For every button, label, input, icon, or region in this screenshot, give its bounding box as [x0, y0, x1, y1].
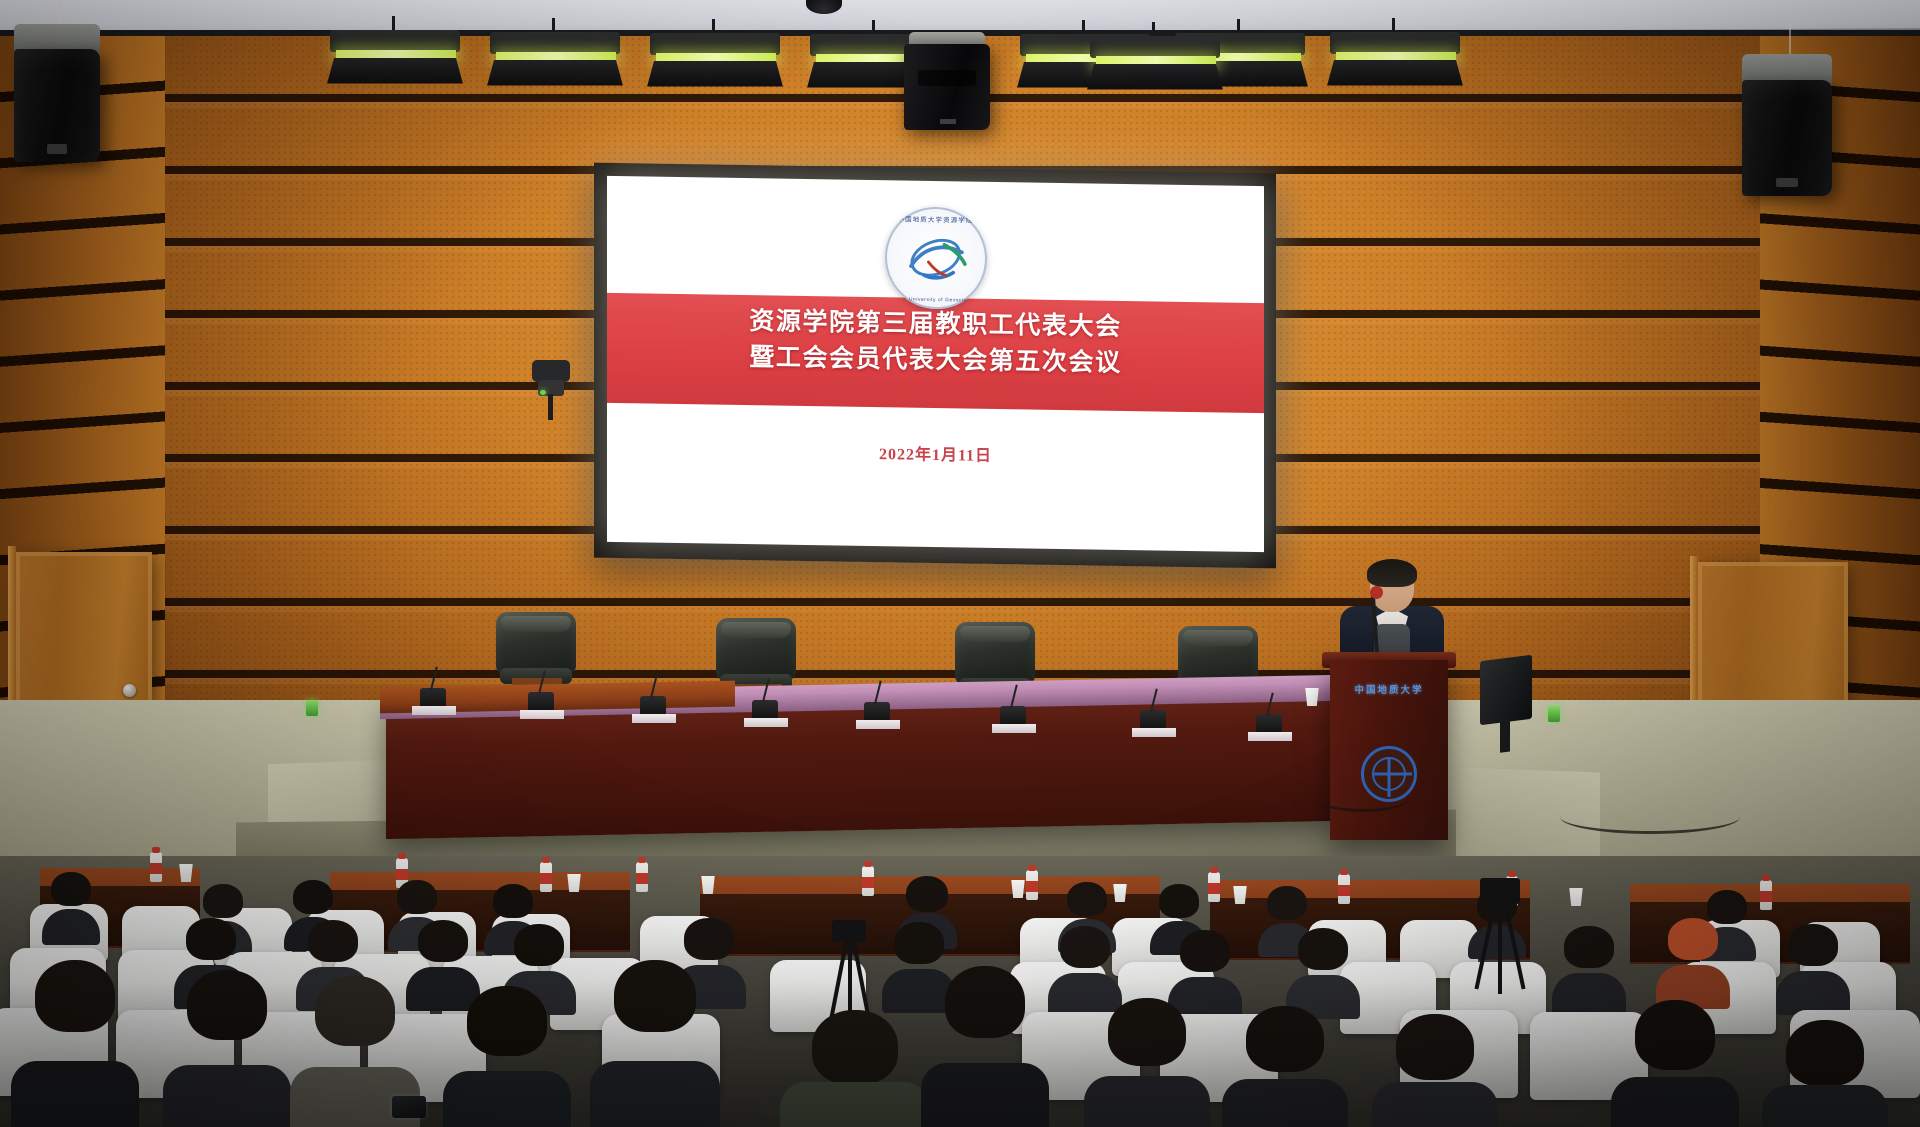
slide-date: 2022年1月11日: [607, 436, 1264, 470]
water-bottle-7: [1208, 872, 1220, 902]
table-microphone-6: [1000, 706, 1026, 726]
exit-indicator-left: [306, 700, 318, 716]
university-emblem-icon: 中国地质大学资源学院 China University of Geoscienc…: [885, 206, 987, 310]
conference-hall-photo: 中国地质大学资源学院 China University of Geoscienc…: [0, 0, 1920, 1127]
slide-title: 资源学院第三届教职工代表大会 暨工会会员代表大会第五次会议: [607, 302, 1264, 383]
emblem-ring-text-top: 中国地质大学资源学院: [885, 213, 987, 225]
podium: 中国地质大学: [1330, 660, 1448, 840]
smartphone-screen: [392, 1096, 426, 1118]
table-microphone-3: [640, 696, 666, 716]
stage-light-7: [1330, 32, 1460, 94]
attendee-foreground: [600, 960, 710, 1127]
attendee-foreground: [790, 1010, 920, 1127]
projection-screen-frame: 中国地质大学资源学院 China University of Geoscienc…: [594, 163, 1276, 569]
center-hanging-speaker: [904, 26, 990, 130]
stage-light-2: [490, 32, 620, 94]
table-microphone-2: [528, 692, 554, 712]
table-microphone-5: [864, 702, 890, 722]
water-bottle-4: [636, 862, 648, 892]
attendee-foreground: [20, 960, 130, 1127]
attendee: [1290, 928, 1356, 1006]
water-bottle-10: [1760, 880, 1772, 910]
emblem-swoosh-icon: [899, 233, 972, 285]
attendee-foreground: [1620, 1000, 1730, 1127]
wall-speaker-right: [1742, 54, 1832, 196]
attendee: [1052, 926, 1118, 1004]
attendee: [1660, 918, 1726, 996]
projection-screen: 中国地质大学资源学院 China University of Geoscienc…: [607, 176, 1264, 552]
table-microphone-8: [1256, 714, 1282, 734]
attendee-foreground: [172, 970, 282, 1127]
confidence-monitor: [1480, 655, 1532, 725]
exit-indicator-right: [1548, 706, 1560, 722]
table-microphone-4: [752, 700, 778, 720]
camera-tripod-2: [1480, 878, 1524, 988]
water-bottle-3: [540, 862, 552, 892]
attendee-foreground: [930, 966, 1040, 1127]
table-microphone-7: [1140, 710, 1166, 730]
stage-chair-1: [496, 612, 576, 690]
attendee-foreground: [1230, 1006, 1340, 1127]
stage-light-1: [330, 30, 460, 92]
wall-speaker-left: [14, 24, 100, 162]
stage-light-8: [1090, 36, 1220, 98]
podium-microphone-head: [1370, 586, 1383, 599]
water-bottle-5: [862, 866, 874, 896]
table-microphone-1: [420, 688, 446, 708]
attendee-foreground: [1092, 998, 1202, 1127]
attendee: [1780, 924, 1846, 1002]
wall-camera-icon: [530, 360, 572, 410]
attendee: [44, 872, 98, 934]
attendee-foreground: [452, 986, 562, 1127]
floor-cable-2: [1560, 800, 1740, 834]
attendee-foreground: [1770, 1020, 1880, 1127]
attendee: [1172, 930, 1238, 1008]
floor-cable-1: [1318, 786, 1408, 812]
attendee-foreground: [1380, 1014, 1490, 1127]
stage-light-3: [650, 33, 780, 95]
water-bottle-6: [1026, 870, 1038, 900]
water-bottle-1: [150, 852, 162, 882]
water-bottle-8: [1338, 874, 1350, 904]
podium-institution-text: 中国地质大学: [1330, 682, 1448, 696]
attendee: [1556, 926, 1622, 1004]
